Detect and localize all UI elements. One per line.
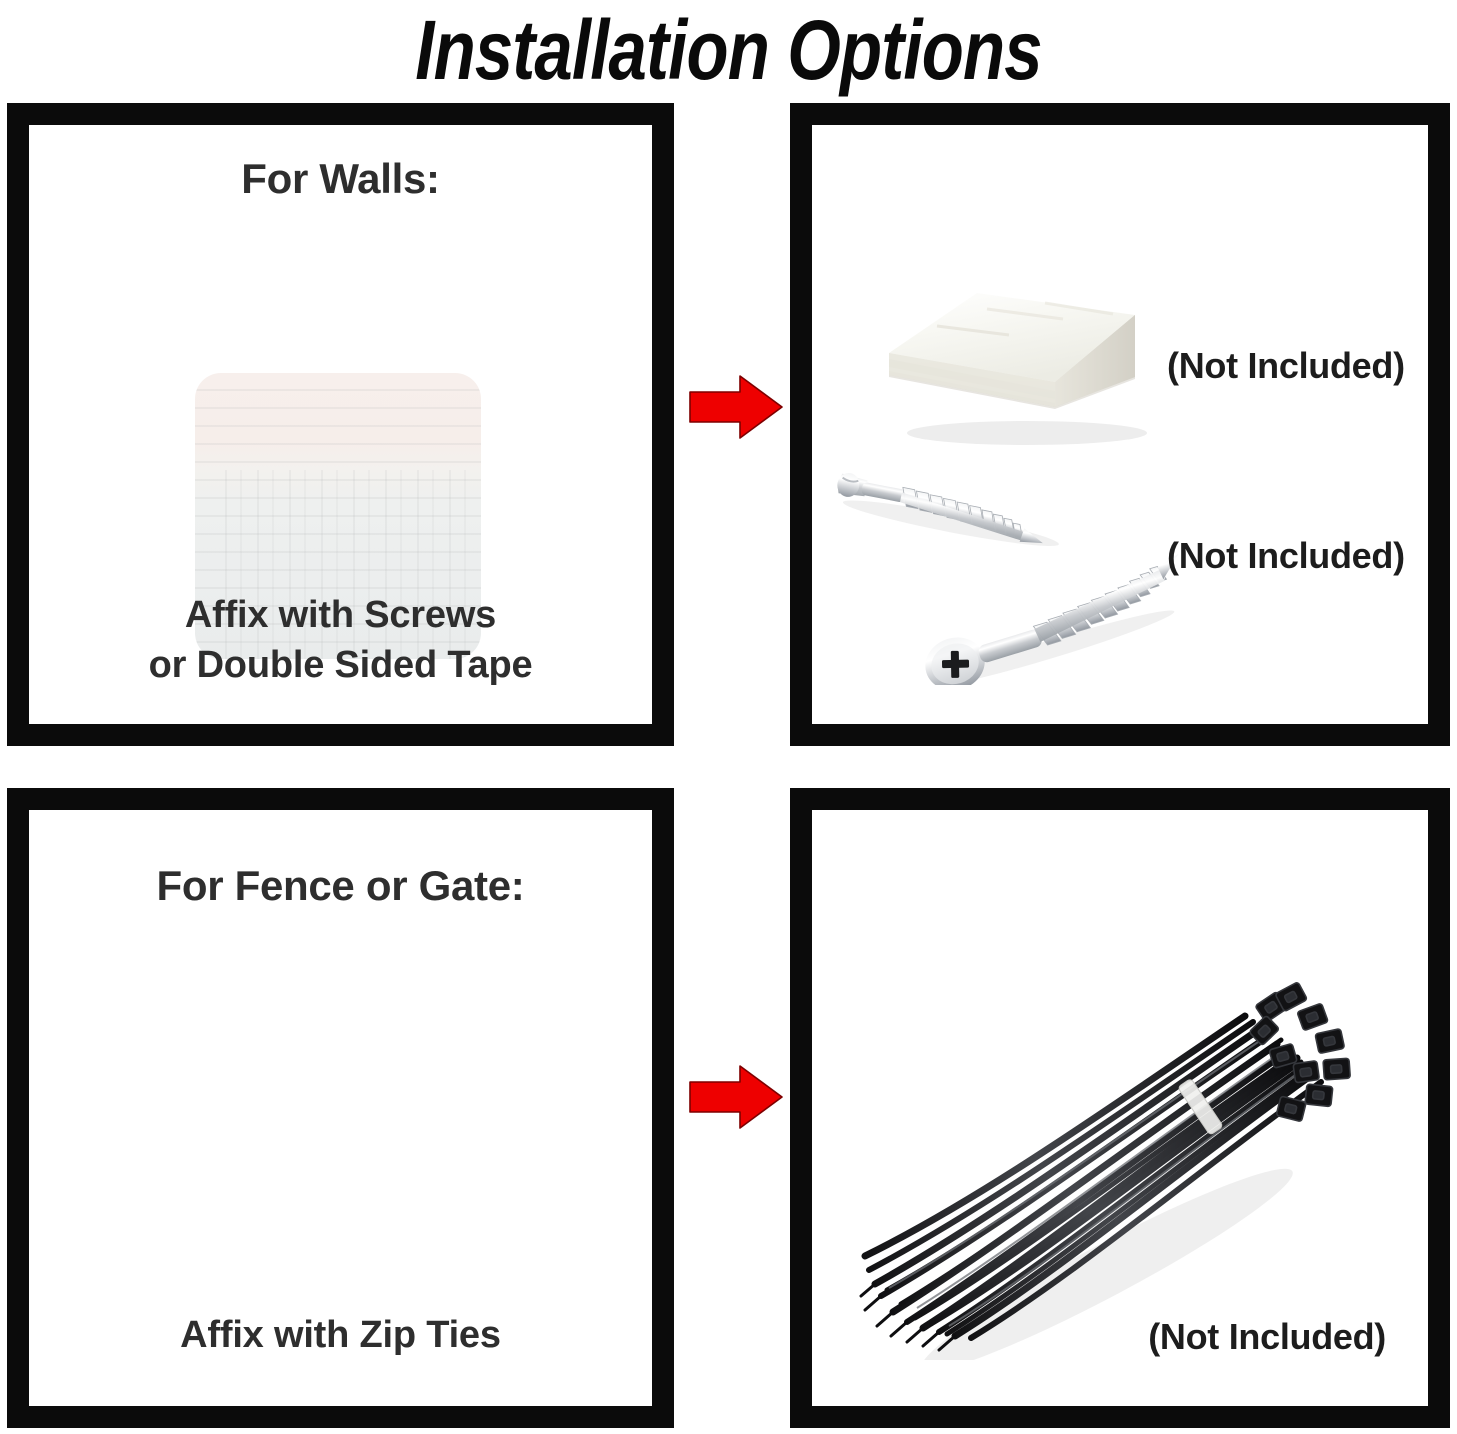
- panel-zip-ties: (Not Included): [790, 788, 1450, 1428]
- red-right-arrow-icon: [688, 372, 784, 442]
- tape-not-included-label: (Not Included): [1167, 345, 1405, 387]
- panel-zip-ties-content: (Not Included): [812, 810, 1428, 1406]
- red-right-arrow-icon-2: [688, 1062, 784, 1132]
- black-zip-tie-bundle-image: [857, 940, 1377, 1360]
- for-fence-heading: For Fence or Gate:: [29, 862, 652, 910]
- page-title: Installation Options: [131, 2, 1326, 98]
- panel-wall-hardware-content: (Not Included): [812, 125, 1428, 724]
- for-walls-caption: Affix with Screws or Double Sided Tape: [29, 590, 652, 690]
- for-fence-caption: Affix with Zip Ties: [29, 1310, 652, 1360]
- double-sided-tape-stack-image: [867, 257, 1167, 447]
- caption-line-1: Affix with Screws: [29, 590, 652, 640]
- panel-for-fence-or-gate: For Fence or Gate:: [7, 788, 674, 1428]
- panel-for-walls: For Walls: Affix with Screws or Double S…: [7, 103, 674, 746]
- ziptie-not-included-label: (Not Included): [1148, 1316, 1386, 1358]
- infographic-root: Installation Options For Walls: Affix wi…: [0, 0, 1457, 1434]
- for-walls-heading: For Walls:: [29, 155, 652, 203]
- screws-not-included-label: (Not Included): [1167, 535, 1405, 577]
- silver-wood-screws-image: [832, 455, 1202, 685]
- panel-for-walls-content: For Walls: Affix with Screws or Double S…: [29, 125, 652, 724]
- caption-line-2: or Double Sided Tape: [29, 640, 652, 690]
- panel-for-fence-content: For Fence or Gate:: [29, 810, 652, 1406]
- panel-wall-hardware: (Not Included): [790, 103, 1450, 746]
